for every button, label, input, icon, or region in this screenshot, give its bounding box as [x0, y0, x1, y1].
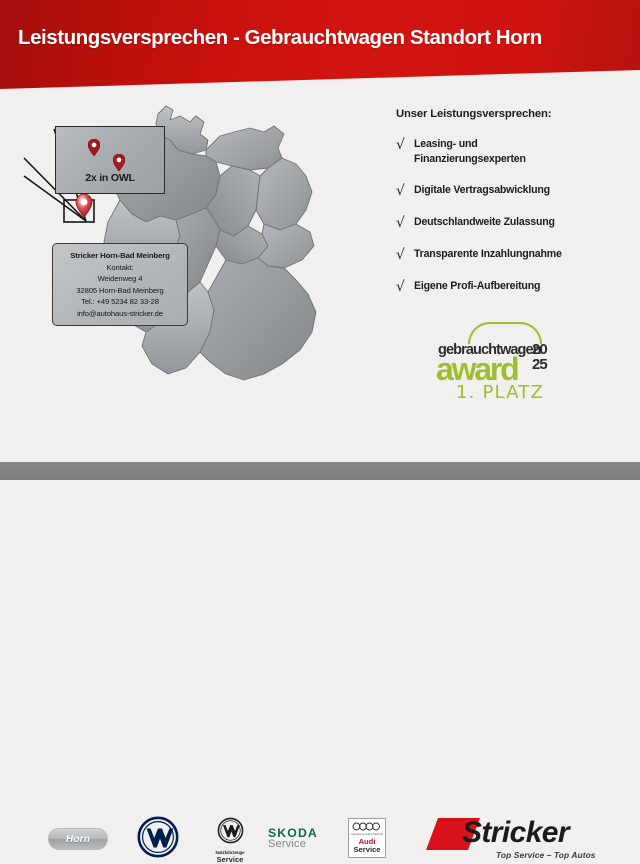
horn-logo: Horn — [48, 828, 108, 850]
benefit-label: Leasing- und Finanzierungsexperten — [414, 137, 526, 167]
benefit-label: Eigene Profi-Aufbereitung — [414, 279, 540, 294]
benefit-label: Transparente Inzahlungnahme — [414, 247, 562, 262]
audi-name: Audi — [359, 838, 376, 846]
address-line-phone: Tel.: +49 5234 82 33-28 — [57, 296, 183, 308]
audi-tagline: Vorsprung durch Technik — [351, 832, 383, 836]
benefit-item-1: √ Digitale Vertragsabwicklung — [396, 183, 636, 199]
award-year: 20 25 — [532, 342, 560, 373]
audi-service-label: Service — [353, 846, 380, 854]
slide-root: Leistungsversprechen - Gebrauchtwagen St… — [0, 0, 640, 480]
benefit-item-4: √ Eigene Profi-Aufbereitung — [396, 279, 636, 295]
vw-nfz-line2: Service — [207, 855, 253, 864]
vw-nutzfahrzeuge-icon — [217, 817, 244, 844]
partner-logo-strip: Horn Nutzfahrzeuge Service SKODA Service — [0, 404, 640, 462]
benefit-label: Deutschlandweite Zulassung — [414, 215, 555, 230]
vw-nutzfahrzeuge-logo: Nutzfahrzeuge Service — [207, 817, 253, 863]
vw-logo-icon — [137, 816, 179, 858]
benefit-item-3: √ Transparente Inzahlungnahme — [396, 247, 636, 263]
check-icon: √ — [396, 183, 414, 199]
stricker-slogan: Top Service – Top Autos — [496, 850, 596, 860]
stricker-logo: Stricker Top Service – Top Autos — [424, 812, 604, 864]
check-icon: √ — [396, 215, 414, 231]
check-icon: √ — [396, 247, 414, 263]
address-line-city: 32805 Horn-Bad Meinberg — [57, 285, 183, 297]
skoda-service-label: Service — [268, 838, 334, 850]
award-place-text: 1. PLATZ — [456, 382, 544, 403]
address-line-kontakt: Kontakt: — [57, 262, 183, 274]
footer-bar — [0, 462, 640, 480]
owl-pin-1 — [88, 139, 100, 156]
address-box: Stricker Horn-Bad Meinberg Kontakt: Weid… — [52, 243, 188, 326]
address-line-street: Weidenweg 4 — [57, 273, 183, 285]
audi-rings-icon — [352, 822, 382, 831]
skoda-service-logo: SKODA Service — [268, 826, 334, 850]
benefit-item-2: √ Deutschlandweite Zulassung — [396, 215, 636, 231]
address-line-name: Stricker Horn-Bad Meinberg — [57, 250, 183, 262]
owl-pin-2 — [113, 154, 125, 171]
award-badge: gebrauchtwagen award 20 25 1. PLATZ — [432, 322, 572, 402]
benefits-panel: Unser Leistungsversprechen: √ Leasing- u… — [396, 108, 636, 311]
check-icon: √ — [396, 279, 414, 295]
horn-logo-label: Horn — [66, 834, 90, 845]
stricker-name: Stricker — [462, 818, 569, 848]
page-title: Leistungsversprechen - Gebrauchtwagen St… — [18, 26, 542, 50]
owl-callout-label: 2x in OWL — [56, 172, 164, 184]
benefit-item-0: √ Leasing- und Finanzierungsexperten — [396, 137, 636, 167]
car-silhouette-icon — [468, 322, 542, 344]
owl-callout-box: 2x in OWL — [55, 126, 165, 194]
award-word-text: award — [436, 353, 518, 385]
award-year-bottom: 25 — [532, 357, 560, 372]
benefit-label: Digitale Vertragsabwicklung — [414, 183, 550, 198]
benefits-heading: Unser Leistungsversprechen: — [396, 108, 636, 120]
address-line-email: info@autohaus-stricker.de — [57, 308, 183, 320]
award-year-top: 20 — [532, 342, 560, 357]
check-icon: √ — [396, 137, 414, 153]
audi-service-logo: Vorsprung durch Technik Audi Service — [348, 818, 386, 858]
